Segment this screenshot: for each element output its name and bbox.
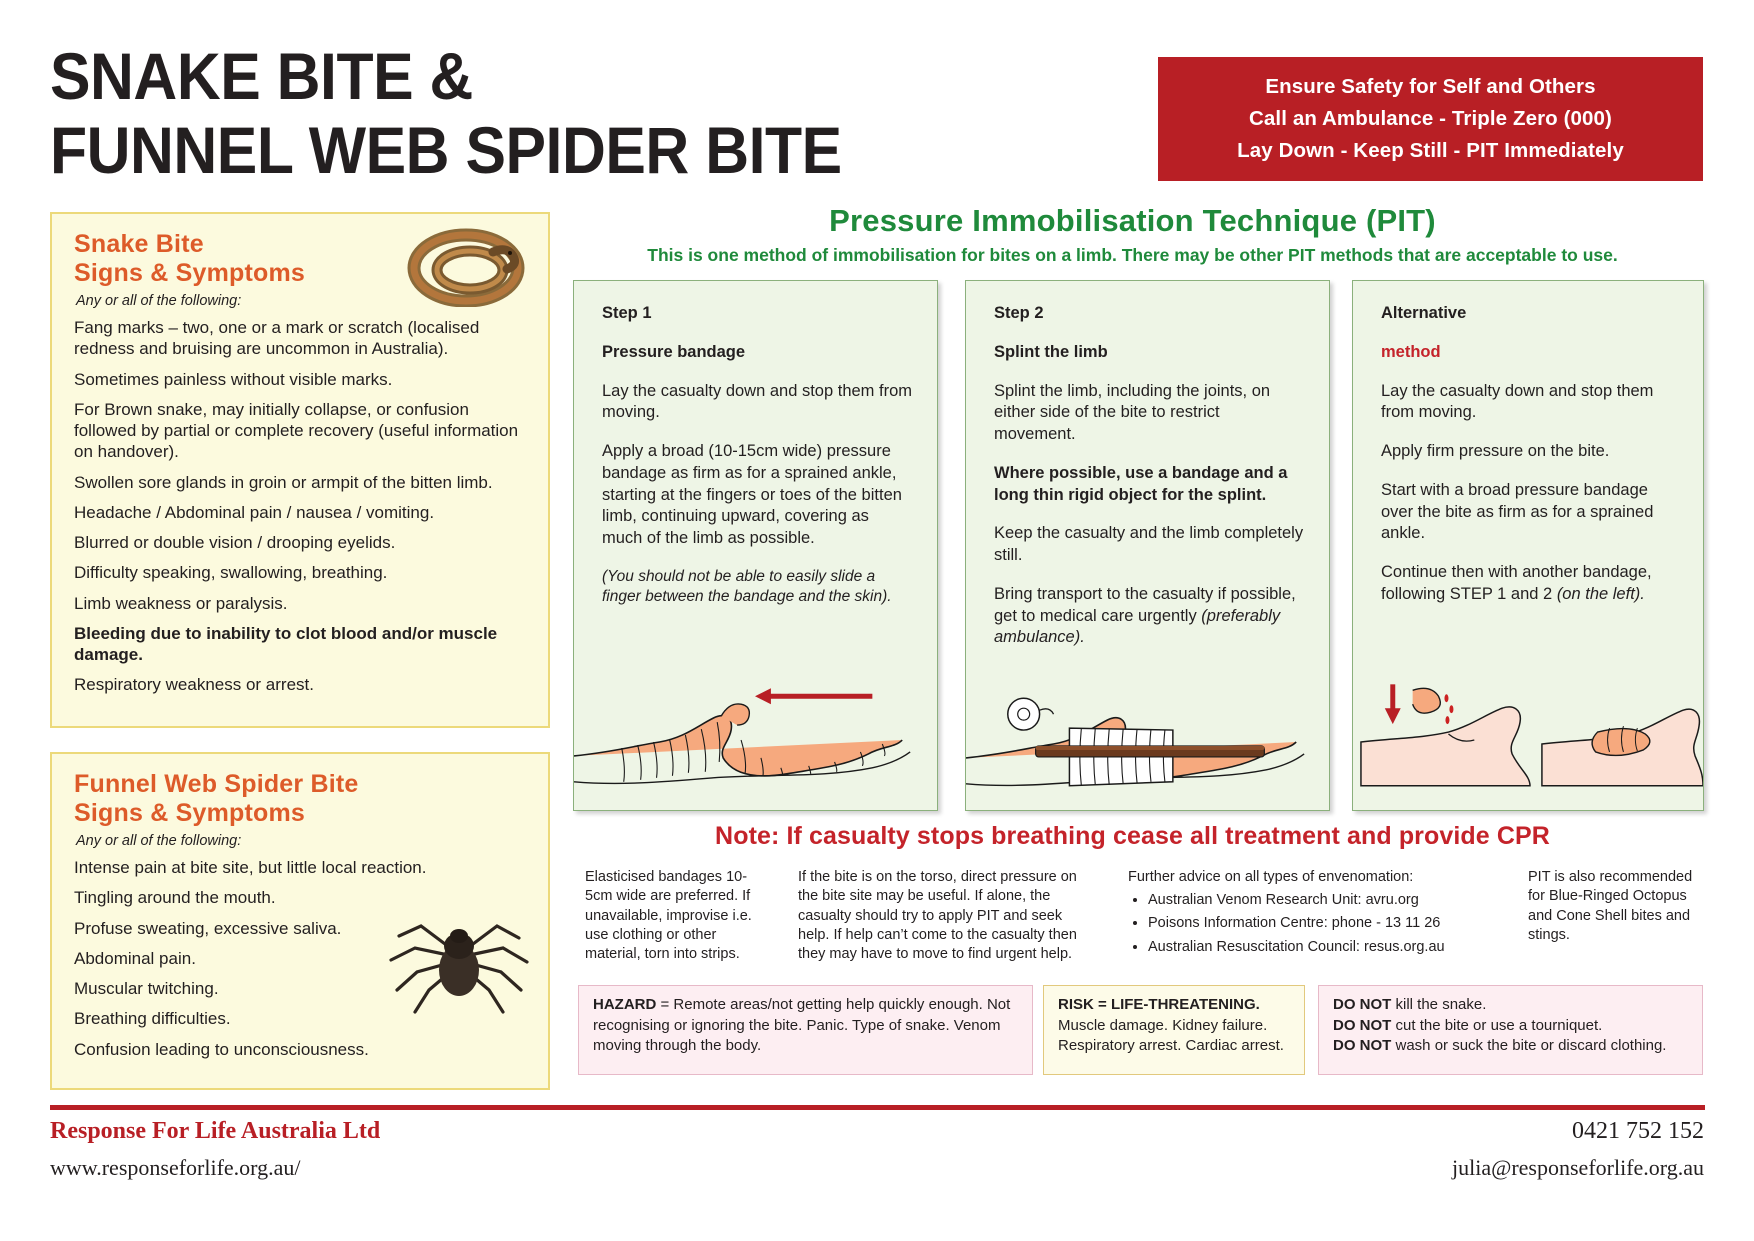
do-not-label: DO NOT — [1333, 996, 1391, 1013]
step-1-number: Step 1 — [602, 303, 913, 325]
alternative-para-2: Apply firm pressure on the bite. — [1381, 441, 1679, 463]
risk-box: RISK = LIFE-THREATENING. Muscle damage. … — [1043, 985, 1305, 1075]
hazard-body: = Remote areas/not getting help quickly … — [593, 996, 1010, 1054]
do-not-body-3: wash or suck the bite or discard clothin… — [1391, 1037, 1666, 1054]
footnote-further-advice: Further advice on all types of envenomat… — [1128, 868, 1458, 961]
hazard-label: HAZARD — [593, 996, 656, 1013]
spider-bite-symptoms-panel: Funnel Web Spider Bite Signs & Symptoms … — [50, 752, 550, 1090]
bite-site-illustration — [1353, 682, 1703, 802]
list-item: Respiratory weakness or arrest. — [74, 674, 528, 695]
step-2-card: Step 2 Splint the limb Splint the limb, … — [965, 280, 1330, 811]
step-2-para-4: Bring transport to the casualty if possi… — [994, 584, 1305, 649]
alternative-method-card: Alternative method Lay the casualty down… — [1352, 280, 1704, 811]
snake-heading-line-1: Snake Bite — [74, 230, 204, 258]
banner-line-1: Ensure Safety for Self and Others — [1265, 75, 1595, 99]
spider-panel-heading: Funnel Web Spider Bite Signs & Symptoms — [74, 770, 528, 827]
list-item: Sometimes painless without visible marks… — [74, 369, 528, 390]
emergency-banner: Ensure Safety for Self and Others Call a… — [1158, 57, 1703, 181]
bandaged-leg-illustration — [574, 682, 937, 802]
footnote-bandages-text: Elasticised bandages 10-5cm wide are pre… — [585, 868, 760, 964]
list-item: Confusion leading to unconsciousness. — [74, 1039, 528, 1060]
do-not-line-1: DO NOT kill the snake. — [1333, 995, 1690, 1016]
step-2-para-2: Where possible, use a bandage and a long… — [994, 463, 1305, 507]
list-item: Swollen sore glands in groin or armpit o… — [74, 472, 528, 493]
footnote-other-stings-text: PIT is also recommended for Blue-Ringed … — [1528, 868, 1693, 945]
spider-any-or-all: Any or all of the following: — [76, 833, 528, 849]
step-1-card: Step 1 Pressure bandage Lay the casualty… — [573, 280, 938, 811]
spider-heading-line-1: Funnel Web Spider Bite — [74, 770, 359, 798]
snake-photo — [398, 222, 538, 307]
footer-rule — [50, 1105, 1705, 1110]
step-2-number: Step 2 — [994, 303, 1305, 325]
step-2-para-3: Keep the casualty and the limb completel… — [994, 523, 1305, 567]
snake-bite-symptoms-panel: Snake Bite Signs & Symptoms Any or all o… — [50, 212, 550, 728]
footnote-other-stings: PIT is also recommended for Blue-Ringed … — [1528, 868, 1693, 948]
list-item: Headache / Abdominal pain / nausea / vom… — [74, 502, 528, 523]
list-item: Blurred or double vision / drooping eyel… — [74, 532, 528, 553]
list-item: Difficulty speaking, swallowing, breathi… — [74, 562, 528, 583]
step-1-para-2: Apply a broad (10-15cm wide) pressure ba… — [602, 441, 913, 550]
step-1-italic-note: (You should not be able to easily slide … — [602, 567, 913, 607]
risk-label: RISK = — [1058, 996, 1111, 1013]
do-not-body-1: kill the snake. — [1391, 996, 1486, 1013]
do-not-label: DO NOT — [1333, 1037, 1391, 1054]
alternative-name: method — [1381, 342, 1679, 364]
pit-title: Pressure Immobilisation Technique (PIT) — [560, 203, 1705, 239]
list-item: Australian Venom Research Unit: avru.org — [1148, 891, 1458, 910]
phone-number: 0421 752 152 — [1572, 1118, 1704, 1145]
step-2-para-1: Splint the limb, including the joints, o… — [994, 381, 1305, 446]
banner-line-3: Lay Down - Keep Still - PIT Immediately — [1237, 139, 1624, 163]
organisation-name: Response For Life Australia Ltd — [50, 1118, 380, 1145]
alternative-para-3: Start with a broad pressure bandage over… — [1381, 480, 1679, 545]
pit-subtitle: This is one method of immobilisation for… — [560, 245, 1705, 266]
email-link[interactable]: julia@responseforlife.org.au — [1452, 1155, 1704, 1181]
snake-symptom-list: Fang marks – two, one or a mark or scrat… — [74, 317, 528, 696]
risk-text: RISK = LIFE-THREATENING. Muscle damage. … — [1058, 995, 1292, 1057]
hazard-box: HAZARD = Remote areas/not getting help q… — [578, 985, 1033, 1075]
do-not-label: DO NOT — [1333, 1017, 1391, 1034]
down-arrow — [1385, 684, 1401, 724]
spider-photo — [381, 886, 536, 1026]
direction-arrow — [755, 688, 872, 704]
step-1-name: Pressure bandage — [602, 342, 913, 364]
cpr-note: Note: If casualty stops breathing cease … — [560, 822, 1705, 851]
poster-root: SNAKE BITE & FUNNEL WEB SPIDER BITE Ensu… — [0, 0, 1754, 1241]
footnote-bandages: Elasticised bandages 10-5cm wide are pre… — [585, 868, 760, 967]
website-link[interactable]: www.responseforlife.org.au/ — [50, 1155, 301, 1181]
title-line-2: FUNNEL WEB SPIDER BITE — [50, 114, 1053, 188]
banner-line-2: Call an Ambulance - Triple Zero (000) — [1249, 107, 1612, 131]
risk-body: Muscle damage. Kidney failure. Respirato… — [1058, 1017, 1284, 1055]
list-item: Limb weakness or paralysis. — [74, 593, 528, 614]
step-1-para-1: Lay the casualty down and stop them from… — [602, 381, 913, 425]
alternative-number: Alternative — [1381, 303, 1679, 325]
alternative-para-4: Continue then with another bandage, foll… — [1381, 562, 1679, 606]
alternative-para-4-italic: (on the left). — [1557, 585, 1645, 603]
list-item: For Brown snake, may initially collapse,… — [74, 399, 528, 463]
spider-heading-line-2: Signs & Symptoms — [74, 799, 305, 827]
footnote-advice-intro: Further advice on all types of envenomat… — [1128, 868, 1458, 887]
page-title: SNAKE BITE & FUNNEL WEB SPIDER BITE — [50, 40, 1053, 188]
step-2-name: Splint the limb — [994, 342, 1305, 364]
list-item: Poisons Information Centre: phone - 13 1… — [1148, 914, 1458, 933]
do-not-body-2: cut the bite or use a tourniquet. — [1391, 1017, 1602, 1034]
list-item: Bleeding due to inability to clot blood … — [74, 623, 528, 666]
list-item: Intense pain at bite site, but little lo… — [74, 857, 528, 878]
title-line-1: SNAKE BITE & — [50, 40, 1053, 114]
risk-emphasis: LIFE-THREATENING. — [1111, 996, 1260, 1013]
list-item: Australian Resuscitation Council: resus.… — [1148, 938, 1458, 957]
footnote-advice-list: Australian Venom Research Unit: avru.org… — [1128, 891, 1458, 956]
do-not-box: DO NOT kill the snake. DO NOT cut the bi… — [1318, 985, 1703, 1075]
splinted-leg-illustration — [966, 682, 1329, 802]
list-item: Fang marks – two, one or a mark or scrat… — [74, 317, 528, 360]
do-not-line-2: DO NOT cut the bite or use a tourniquet. — [1333, 1016, 1690, 1037]
footnote-torso-bite: If the bite is on the torso, direct pres… — [798, 868, 1088, 967]
hazard-text: HAZARD = Remote areas/not getting help q… — [593, 995, 1020, 1057]
footnote-torso-bite-text: If the bite is on the torso, direct pres… — [798, 868, 1088, 964]
alternative-para-1: Lay the casualty down and stop them from… — [1381, 381, 1679, 425]
snake-heading-line-2: Signs & Symptoms — [74, 259, 305, 287]
do-not-line-3: DO NOT wash or suck the bite or discard … — [1333, 1036, 1690, 1057]
